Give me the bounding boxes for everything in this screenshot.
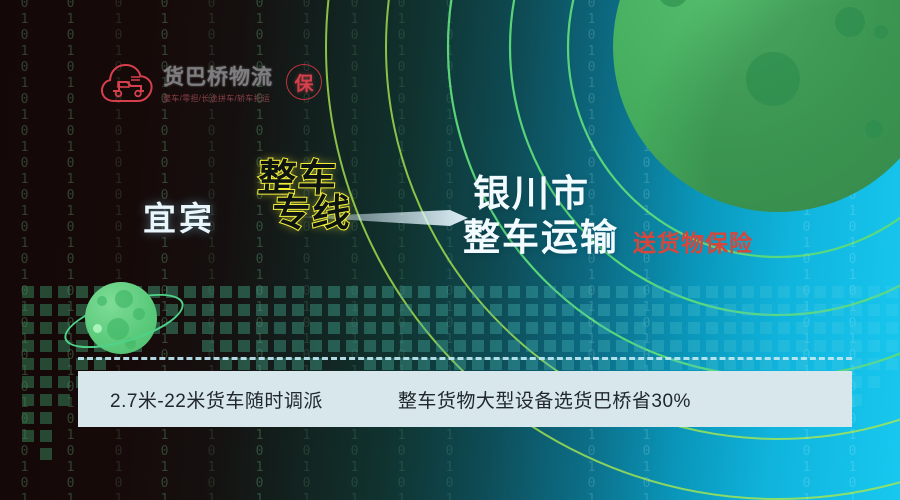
mosaic-cell xyxy=(310,304,322,316)
mosaic-cell xyxy=(742,340,754,352)
mosaic-cell xyxy=(310,322,322,334)
mosaic-cell xyxy=(274,340,286,352)
mosaic-cell xyxy=(202,340,214,352)
mosaic-cell xyxy=(526,286,538,298)
mosaic-cell xyxy=(256,304,268,316)
mosaic-cell xyxy=(454,304,466,316)
destination-service: 整车运输 xyxy=(463,216,619,260)
mosaic-cell xyxy=(400,322,412,334)
mosaic-cell xyxy=(454,286,466,298)
mosaic-cell xyxy=(256,340,268,352)
mosaic-cell xyxy=(400,340,412,352)
mosaic-cell xyxy=(616,322,628,334)
mosaic-cell xyxy=(238,322,250,334)
mosaic-cell xyxy=(616,286,628,298)
mosaic-cell xyxy=(562,340,574,352)
mosaic-cell xyxy=(544,304,556,316)
mosaic-cell xyxy=(868,286,880,298)
mosaic-cell xyxy=(670,304,682,316)
mosaic-cell xyxy=(400,304,412,316)
mosaic-cell xyxy=(202,322,214,334)
mosaic-cell xyxy=(346,322,358,334)
mosaic-cell xyxy=(580,322,592,334)
mosaic-cell xyxy=(490,322,502,334)
logo-title: 货巴桥物流 xyxy=(163,61,273,91)
mosaic-cell xyxy=(22,376,34,388)
mosaic-cell xyxy=(292,286,304,298)
mosaic-cell xyxy=(670,322,682,334)
mosaic-cell xyxy=(832,286,844,298)
mosaic-cell xyxy=(58,376,70,388)
mosaic-cell xyxy=(184,286,196,298)
mosaic-cell xyxy=(184,304,196,316)
mosaic-cell xyxy=(598,340,610,352)
mosaic-cell xyxy=(652,304,664,316)
mosaic-cell xyxy=(436,322,448,334)
mosaic-cell xyxy=(418,304,430,316)
mosaic-cell xyxy=(814,322,826,334)
mosaic-cell xyxy=(274,286,286,298)
mosaic-cell xyxy=(22,340,34,352)
info-bar: 2.7米-22米货车随时调派 整车货物大型设备选货巴桥省30% xyxy=(78,371,852,427)
mosaic-cell xyxy=(634,304,646,316)
mosaic-cell xyxy=(220,304,232,316)
mosaic-cell xyxy=(742,322,754,334)
mosaic-cell xyxy=(562,322,574,334)
mosaic-cell xyxy=(526,322,538,334)
mosaic-cell xyxy=(238,286,250,298)
mosaic-cell xyxy=(202,286,214,298)
dashed-divider xyxy=(78,357,852,360)
mosaic-cell xyxy=(706,304,718,316)
mosaic-cell xyxy=(58,358,70,370)
mosaic-cell xyxy=(22,412,34,424)
mosaic-cell xyxy=(508,304,520,316)
mosaic-cell xyxy=(544,322,556,334)
mosaic-cell xyxy=(508,286,520,298)
mosaic-cell xyxy=(40,304,52,316)
info-bar-right-text: 整车货物大型设备选货巴桥省30% xyxy=(398,386,691,413)
mosaic-cell xyxy=(670,340,682,352)
mosaic-cell xyxy=(472,322,484,334)
mosaic-cell xyxy=(886,286,898,298)
mosaic-cell xyxy=(526,304,538,316)
mosaic-cell xyxy=(382,322,394,334)
mosaic-cell xyxy=(778,304,790,316)
logistics-poster: 1010101010101010101010101010101010101010… xyxy=(0,0,900,500)
mosaic-cell xyxy=(508,340,520,352)
mosaic-cell xyxy=(886,322,898,334)
slogan-line-1: 整车 xyxy=(257,162,353,197)
mosaic-cell xyxy=(706,286,718,298)
mosaic-cell xyxy=(634,340,646,352)
mosaic-cell xyxy=(364,340,376,352)
mosaic-cell xyxy=(274,304,286,316)
mosaic-cell xyxy=(202,304,214,316)
mosaic-cell xyxy=(868,322,880,334)
mosaic-cell xyxy=(796,340,808,352)
mosaic-cell xyxy=(868,358,880,370)
mosaic-cell xyxy=(40,448,52,460)
mosaic-cell xyxy=(598,322,610,334)
mosaic-cell xyxy=(238,304,250,316)
mosaic-cell xyxy=(778,322,790,334)
mosaic-cell xyxy=(292,322,304,334)
mosaic-cell xyxy=(436,286,448,298)
mosaic-cell xyxy=(634,286,646,298)
mosaic-cell xyxy=(256,322,268,334)
mosaic-cell xyxy=(760,304,772,316)
brand-logo[interactable]: 货巴桥物流 整车/零担/长途拼车/轿车托运 保 xyxy=(98,60,322,104)
info-bar-left-text: 2.7米-22米货车随时调派 xyxy=(110,386,323,413)
mosaic-cell xyxy=(220,322,232,334)
mosaic-cell xyxy=(706,322,718,334)
mosaic-cell xyxy=(436,304,448,316)
mosaic-cell xyxy=(580,304,592,316)
insurance-badge: 保 xyxy=(286,64,322,100)
mosaic-cell xyxy=(724,286,736,298)
mosaic-cell xyxy=(490,286,502,298)
mosaic-cell xyxy=(328,340,340,352)
mosaic-cell xyxy=(868,376,880,388)
mosaic-cell xyxy=(652,322,664,334)
mosaic-cell xyxy=(598,286,610,298)
mosaic-cell xyxy=(742,286,754,298)
mosaic-cell xyxy=(562,286,574,298)
destination-city: 银川市 xyxy=(473,172,619,216)
mosaic-cell xyxy=(22,304,34,316)
mosaic-cell xyxy=(580,286,592,298)
mosaic-cell xyxy=(274,322,286,334)
mosaic-cell xyxy=(832,340,844,352)
mosaic-cell xyxy=(652,286,664,298)
mosaic-cell xyxy=(292,304,304,316)
mosaic-cell xyxy=(652,340,664,352)
mosaic-cell xyxy=(508,322,520,334)
mosaic-cell xyxy=(454,340,466,352)
mosaic-cell xyxy=(850,340,862,352)
mosaic-cell xyxy=(706,340,718,352)
mosaic-cell xyxy=(886,358,898,370)
mosaic-cell xyxy=(472,286,484,298)
mosaic-cell xyxy=(616,340,628,352)
mosaic-cell xyxy=(40,286,52,298)
mosaic-cell xyxy=(886,340,898,352)
mosaic-cell xyxy=(580,340,592,352)
mosaic-cell xyxy=(616,304,628,316)
mosaic-cell xyxy=(760,286,772,298)
mosaic-cell xyxy=(220,340,232,352)
mosaic-cell xyxy=(184,322,196,334)
mosaic-cell xyxy=(724,304,736,316)
mosaic-cell xyxy=(310,340,322,352)
origin-city: 宜宾 xyxy=(143,192,215,240)
mosaic-cell xyxy=(760,340,772,352)
mosaic-cell xyxy=(328,304,340,316)
mosaic-cell xyxy=(796,304,808,316)
mosaic-cell xyxy=(346,340,358,352)
mosaic-cell xyxy=(598,304,610,316)
mosaic-cell xyxy=(40,322,52,334)
mosaic-cell xyxy=(346,304,358,316)
logo-subtitle: 整车/零担/长途拼车/轿车托运 xyxy=(163,93,273,104)
mosaic-cell xyxy=(472,340,484,352)
mosaic-cell xyxy=(850,286,862,298)
mosaic-cell xyxy=(418,340,430,352)
mosaic-cell xyxy=(778,340,790,352)
mosaic-cell xyxy=(688,322,700,334)
mosaic-cell xyxy=(328,286,340,298)
mosaic-cell xyxy=(814,304,826,316)
slogan-line-2: 专线 xyxy=(271,197,353,232)
mosaic-cell xyxy=(850,322,862,334)
mosaic-cell xyxy=(364,304,376,316)
mosaic-cell xyxy=(688,304,700,316)
mosaic-cell xyxy=(562,304,574,316)
mosaic-cell xyxy=(328,322,340,334)
mosaic-cell xyxy=(796,322,808,334)
mosaic-cell xyxy=(382,340,394,352)
mosaic-cell xyxy=(382,286,394,298)
mosaic-cell xyxy=(364,322,376,334)
mosaic-cell xyxy=(40,358,52,370)
mosaic-cell xyxy=(22,430,34,442)
mosaic-cell xyxy=(670,286,682,298)
mosaic-cell xyxy=(724,340,736,352)
mosaic-cell xyxy=(436,340,448,352)
mosaic-cell xyxy=(382,304,394,316)
mosaic-cell xyxy=(310,286,322,298)
mosaic-cell xyxy=(220,286,232,298)
mosaic-cell xyxy=(256,286,268,298)
mosaic-cell xyxy=(868,304,880,316)
mosaic-cell xyxy=(40,394,52,406)
mosaic-cell xyxy=(472,304,484,316)
mosaic-cell xyxy=(544,286,556,298)
mosaic-cell xyxy=(886,304,898,316)
mosaic-cell xyxy=(40,430,52,442)
mosaic-cell xyxy=(742,304,754,316)
mosaic-cell xyxy=(418,322,430,334)
mosaic-cell xyxy=(22,286,34,298)
mosaic-cell xyxy=(40,340,52,352)
mosaic-cell xyxy=(58,286,70,298)
mosaic-cell xyxy=(76,286,88,298)
mosaic-cell xyxy=(22,358,34,370)
route-slogan: 整车 专线 xyxy=(258,162,352,232)
mosaic-cell xyxy=(364,286,376,298)
mosaic-cell xyxy=(238,340,250,352)
mosaic-cell xyxy=(346,286,358,298)
mosaic-cell xyxy=(760,322,772,334)
mosaic-cell xyxy=(814,286,826,298)
mosaic-cell xyxy=(22,322,34,334)
mosaic-cell xyxy=(400,286,412,298)
mosaic-cell xyxy=(796,286,808,298)
mosaic-cell xyxy=(778,286,790,298)
mosaic-cell xyxy=(526,340,538,352)
mosaic-cell xyxy=(58,394,70,406)
mosaic-cell xyxy=(688,340,700,352)
mosaic-cell xyxy=(490,304,502,316)
mosaic-cell xyxy=(814,340,826,352)
mosaic-cell xyxy=(58,304,70,316)
mosaic-cell xyxy=(832,322,844,334)
mosaic-cell xyxy=(22,394,34,406)
mosaic-cell xyxy=(634,322,646,334)
destination-block: 银川市 整车运输 xyxy=(473,172,619,259)
mosaic-cell xyxy=(418,286,430,298)
insurance-tag: 送货物保险 xyxy=(633,224,753,258)
mosaic-cell xyxy=(292,340,304,352)
mosaic-cell xyxy=(724,322,736,334)
mosaic-cell xyxy=(544,340,556,352)
mosaic-cell xyxy=(868,340,880,352)
mosaic-cell xyxy=(688,286,700,298)
truck-in-cloud-icon xyxy=(98,60,156,104)
mosaic-cell xyxy=(490,340,502,352)
mosaic-cell xyxy=(832,304,844,316)
mosaic-cell xyxy=(850,304,862,316)
mosaic-cell xyxy=(40,376,52,388)
mosaic-cell xyxy=(454,322,466,334)
mosaic-cell xyxy=(40,412,52,424)
